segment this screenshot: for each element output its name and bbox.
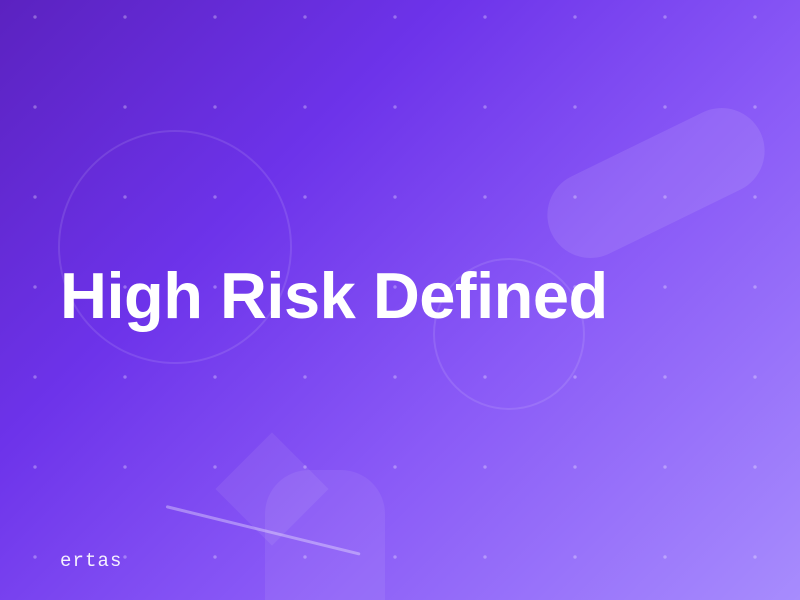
slide-content: High Risk Defined ertas (0, 0, 800, 600)
brand-wordmark: ertas (60, 550, 123, 572)
page-title: High Risk Defined (60, 263, 608, 328)
title-slide: High Risk Defined ertas (0, 0, 800, 600)
